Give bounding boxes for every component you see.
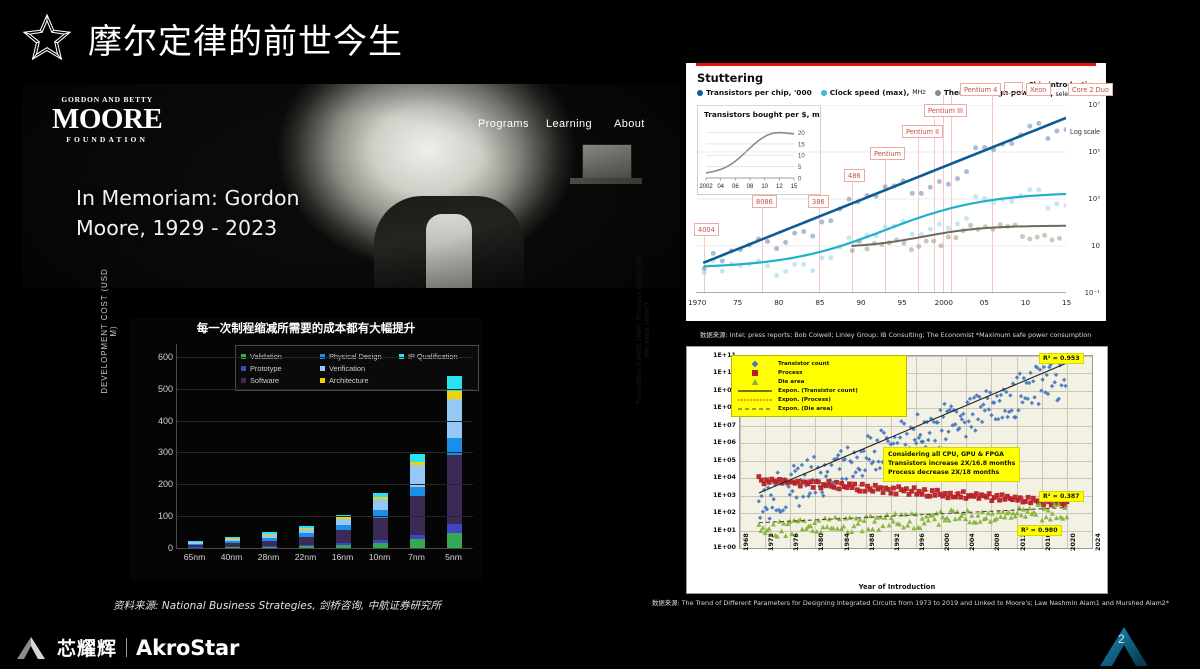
xtick-label: 10 — [1021, 298, 1030, 307]
legend-label: Die area — [778, 379, 804, 385]
xtick-label: 2000 — [943, 533, 951, 551]
slide-header: 摩尔定律的前世今生 — [0, 0, 1200, 72]
chip-label-486: 486 — [844, 169, 865, 182]
xtick-label: 1970 — [688, 298, 706, 307]
legend-dot-transistors — [697, 90, 703, 96]
bar-segment — [410, 454, 425, 462]
chart-stuttering: Stuttering Transistors per chip, '000 Cl… — [686, 63, 1106, 321]
legend-marker — [736, 369, 774, 377]
source-note-left: 资料来源: National Business Strategies, 剑桥咨询… — [113, 598, 441, 613]
xtick-label: 1976 — [792, 533, 800, 551]
xtick-label: 22nm — [291, 552, 321, 562]
chart-xticklabels-dev-cost: 65nm40nm28nm22nm16nm10nm7nm5nm — [176, 552, 472, 562]
moore-logo-line2: MOORE — [52, 105, 162, 134]
ytick-label: 1E+00 — [713, 543, 736, 551]
xtick-label: 1992 — [893, 533, 901, 551]
company-name-en: AkroStar — [136, 636, 239, 660]
bar-segment — [410, 487, 425, 496]
legend-unit-clockspeed: MHz — [912, 89, 925, 96]
ytick-label: 10⁻¹ — [1085, 289, 1100, 297]
legend-item: Expon. (Die area) — [736, 404, 902, 413]
solid-line-icon — [737, 387, 773, 395]
chart-development-cost: 每一次制程缩减所需要的成本都有大幅提升 DEVELOPMENT COST (US… — [130, 318, 482, 580]
legend-marker — [736, 360, 774, 368]
ytick-label: 1E+01 — [713, 526, 736, 534]
bar-stack — [262, 532, 277, 548]
chip-label-386: 386 — [808, 195, 829, 208]
xtick-label: 10nm — [365, 552, 395, 562]
gridline-v — [1092, 356, 1093, 548]
chip-label-pentium: Pentium — [870, 147, 905, 160]
r2-badge-process: R² = 0.387 — [1039, 491, 1084, 502]
dashed-line-icon — [737, 405, 773, 413]
ytick-label: 100 — [158, 511, 173, 521]
economist-red-rule — [696, 63, 1096, 66]
nav-item-learning[interactable]: Learning — [546, 118, 592, 130]
moore-foundation-logo: GORDON AND BETTY MOORE FOUNDATION — [52, 96, 162, 143]
nav-item-programs[interactable]: Programs — [478, 118, 529, 130]
xtick-label: 5nm — [439, 552, 469, 562]
ytick-label: 500 — [158, 384, 173, 394]
ytick-label: 1E+03 — [713, 491, 736, 499]
key-swatch-chipdates — [1004, 82, 1023, 94]
ytick-label: 1E+06 — [713, 438, 736, 446]
ytick-label: 10 — [1091, 242, 1100, 250]
star-outline-logo — [18, 12, 76, 64]
chip-label-xeon: Xeon — [1026, 83, 1051, 96]
legend-item: Process — [736, 368, 902, 377]
legend-label: Expon. (Process) — [778, 397, 831, 403]
xtick-label: 40nm — [217, 552, 247, 562]
bar-segment — [410, 539, 425, 548]
bar-stack — [410, 454, 425, 548]
chart-annotation-trend: Considering all CPU, GPU & FPGA Transist… — [883, 447, 1020, 482]
legend-label: Process — [778, 370, 802, 376]
ytick-label: 400 — [158, 416, 173, 426]
gridline — [177, 452, 473, 453]
chip-label-pentium-ii: Pentium II — [902, 125, 943, 138]
bar-segment — [336, 519, 351, 526]
xtick-label: 16nm — [328, 552, 358, 562]
bar-stack — [336, 515, 351, 548]
xtick-label: 1984 — [843, 533, 851, 551]
chip-label-8086: 8086 — [752, 195, 777, 208]
slide-root: 摩尔定律的前世今生 GORDON AND BETTY MOORE FOUNDAT… — [0, 0, 1200, 669]
dotted-line-icon — [737, 396, 773, 404]
gridline — [177, 421, 473, 422]
legend-dot-tdp — [935, 90, 941, 96]
chart-title-dev-cost: 每一次制程缩减所需要的成本都有大幅提升 — [130, 320, 482, 336]
legend-item: Expon. (Transistor count) — [736, 386, 902, 395]
source-note-stuttering: 数据来源: Intel; press reports; Bob Colwell;… — [700, 330, 1091, 339]
legend-dot-clockspeed — [821, 90, 827, 96]
xtick-label: 95 — [898, 298, 907, 307]
bar-segment — [373, 499, 388, 510]
chart-ylabel-dev-cost: DEVELOPMENT COST (USD M) — [100, 266, 118, 396]
square-marker-icon — [751, 369, 759, 377]
memoriam-headline-line2: Moore, 1929 - 2023 — [76, 214, 300, 244]
ytick-label: 0 — [168, 543, 173, 553]
bar-segment — [447, 455, 462, 525]
gridline — [177, 389, 473, 390]
memoriam-headline: In Memoriam: Gordon Moore, 1929 - 2023 — [76, 184, 300, 243]
page-number: 2 — [1118, 632, 1125, 646]
bar-segment — [299, 537, 314, 545]
chart-xlabel-trend: Year of Introduction — [687, 583, 1107, 591]
xtick-label: 85 — [815, 298, 824, 307]
logo-divider — [126, 638, 127, 657]
legend-marker — [736, 378, 774, 386]
bar-stack — [225, 537, 240, 548]
xtick-label: 28nm — [254, 552, 284, 562]
chip-label-pentium-4: Pentium 4 — [960, 83, 1001, 96]
legend-item-transistors: Transistors per chip, '000 — [697, 88, 812, 97]
xtick-label: 75 — [733, 298, 742, 307]
ytick-label: 1E+04 — [713, 473, 736, 481]
company-logo: 芯耀辉 AkroStar — [14, 634, 239, 661]
xtick-label: 65nm — [180, 552, 210, 562]
ytick-label: 600 — [158, 352, 173, 362]
legend-label-clockspeed: Clock speed (max), — [830, 88, 910, 97]
xtick-label: 1988 — [868, 533, 876, 551]
legend-label: Expon. (Die area) — [778, 406, 833, 412]
r2-badge-diearea: R² = 0.980 — [1017, 525, 1062, 536]
bar-stack — [373, 493, 388, 548]
gridline — [177, 484, 473, 485]
ytick-label: 300 — [158, 447, 173, 457]
chart-title-stuttering: Stuttering — [697, 71, 763, 85]
legend-item: Expon. (Process) — [736, 395, 902, 404]
diamond-marker-icon — [751, 360, 759, 368]
xtick-label: 7nm — [402, 552, 432, 562]
company-name-cn: 芯耀辉 — [57, 634, 117, 661]
ytick-label: 10⁵ — [1088, 148, 1100, 156]
chart-ylabel-trend: Transistor Count (No), Process (nm) and … — [635, 255, 651, 405]
legend-item-clockspeed: Clock speed (max), MHz — [821, 88, 926, 97]
legend-marker — [736, 396, 774, 404]
xtick-label: 80 — [774, 298, 783, 307]
ytick-label: 10⁷ — [1088, 101, 1100, 109]
gordon-moore-memoriam-image: GORDON AND BETTY MOORE FOUNDATION Progra… — [22, 84, 680, 288]
xtick-label: 1980 — [817, 533, 825, 551]
legend-label-transistors: Transistors per chip, '000 — [706, 88, 812, 97]
r2-badge-transistor: R² = 0.953 — [1039, 353, 1084, 364]
akrostar-mark-icon — [14, 635, 48, 661]
xtick-label: 1968 — [742, 533, 750, 551]
xtick-label: 90 — [856, 298, 865, 307]
chart-plot-area-dev-cost: 0100200300400500600 — [176, 344, 473, 548]
ytick-label: 1E+07 — [713, 421, 736, 429]
bar-segment — [447, 524, 462, 532]
xtick-label: 1996 — [918, 533, 926, 551]
ytick-label: 200 — [158, 479, 173, 489]
chart-legend-trend: Transistor countProcessDie areaExpon. (T… — [731, 355, 907, 417]
ytick-label: 1E+02 — [713, 508, 736, 516]
xtick-label: 2024 — [1094, 533, 1102, 551]
bar-group — [177, 344, 473, 548]
legend-item: Transistor count — [736, 359, 902, 368]
chip-label-pentium-iii: Pentium III — [924, 104, 967, 117]
legend-item: Die area — [736, 377, 902, 386]
chart-transistor-trend: Transistor Count (No), Process (nm) and … — [686, 346, 1108, 594]
chip-label-core-2-duo: Core 2 Duo — [1068, 83, 1113, 96]
gridline — [177, 516, 473, 517]
triangle-marker-icon — [751, 378, 759, 386]
xtick-label: 2008 — [993, 533, 1001, 551]
memoriam-headline-line1: In Memoriam: Gordon — [76, 184, 300, 214]
xtick-label: 05 — [980, 298, 989, 307]
log-scale-note: Log scale — [1070, 129, 1100, 136]
nav-item-about[interactable]: About — [614, 118, 645, 130]
xtick-label: 1972 — [767, 533, 775, 551]
moore-logo-line3: FOUNDATION — [52, 136, 162, 144]
xtick-label: 2000 — [935, 298, 953, 307]
bar-stack — [299, 526, 314, 548]
bar-segment — [336, 530, 351, 543]
bar-stack — [188, 541, 203, 548]
bar-segment — [447, 391, 462, 399]
bar-segment — [447, 533, 462, 548]
ytick-label: 1E+05 — [713, 456, 736, 464]
bar-stack — [447, 376, 462, 548]
xtick-label: 2004 — [968, 533, 976, 551]
gridline — [177, 357, 473, 358]
legend-label: Transistor count — [778, 361, 829, 367]
chart-xaxis-dev-cost — [176, 548, 472, 549]
xtick-label: 2020 — [1069, 533, 1077, 551]
bar-segment — [373, 518, 388, 540]
legend-marker — [736, 405, 774, 413]
legend-marker — [736, 387, 774, 395]
xtick-label: 15 — [1062, 298, 1071, 307]
source-note-right: 数据来源: The Trend of Different Parameters … — [652, 598, 1169, 607]
page-title: 摩尔定律的前世今生 — [88, 14, 403, 63]
ytick-label: 10³ — [1088, 195, 1100, 203]
chip-label-4004: 4004 — [694, 223, 719, 236]
legend-label: Expon. (Transistor count) — [778, 388, 858, 394]
bar-segment — [447, 399, 462, 438]
